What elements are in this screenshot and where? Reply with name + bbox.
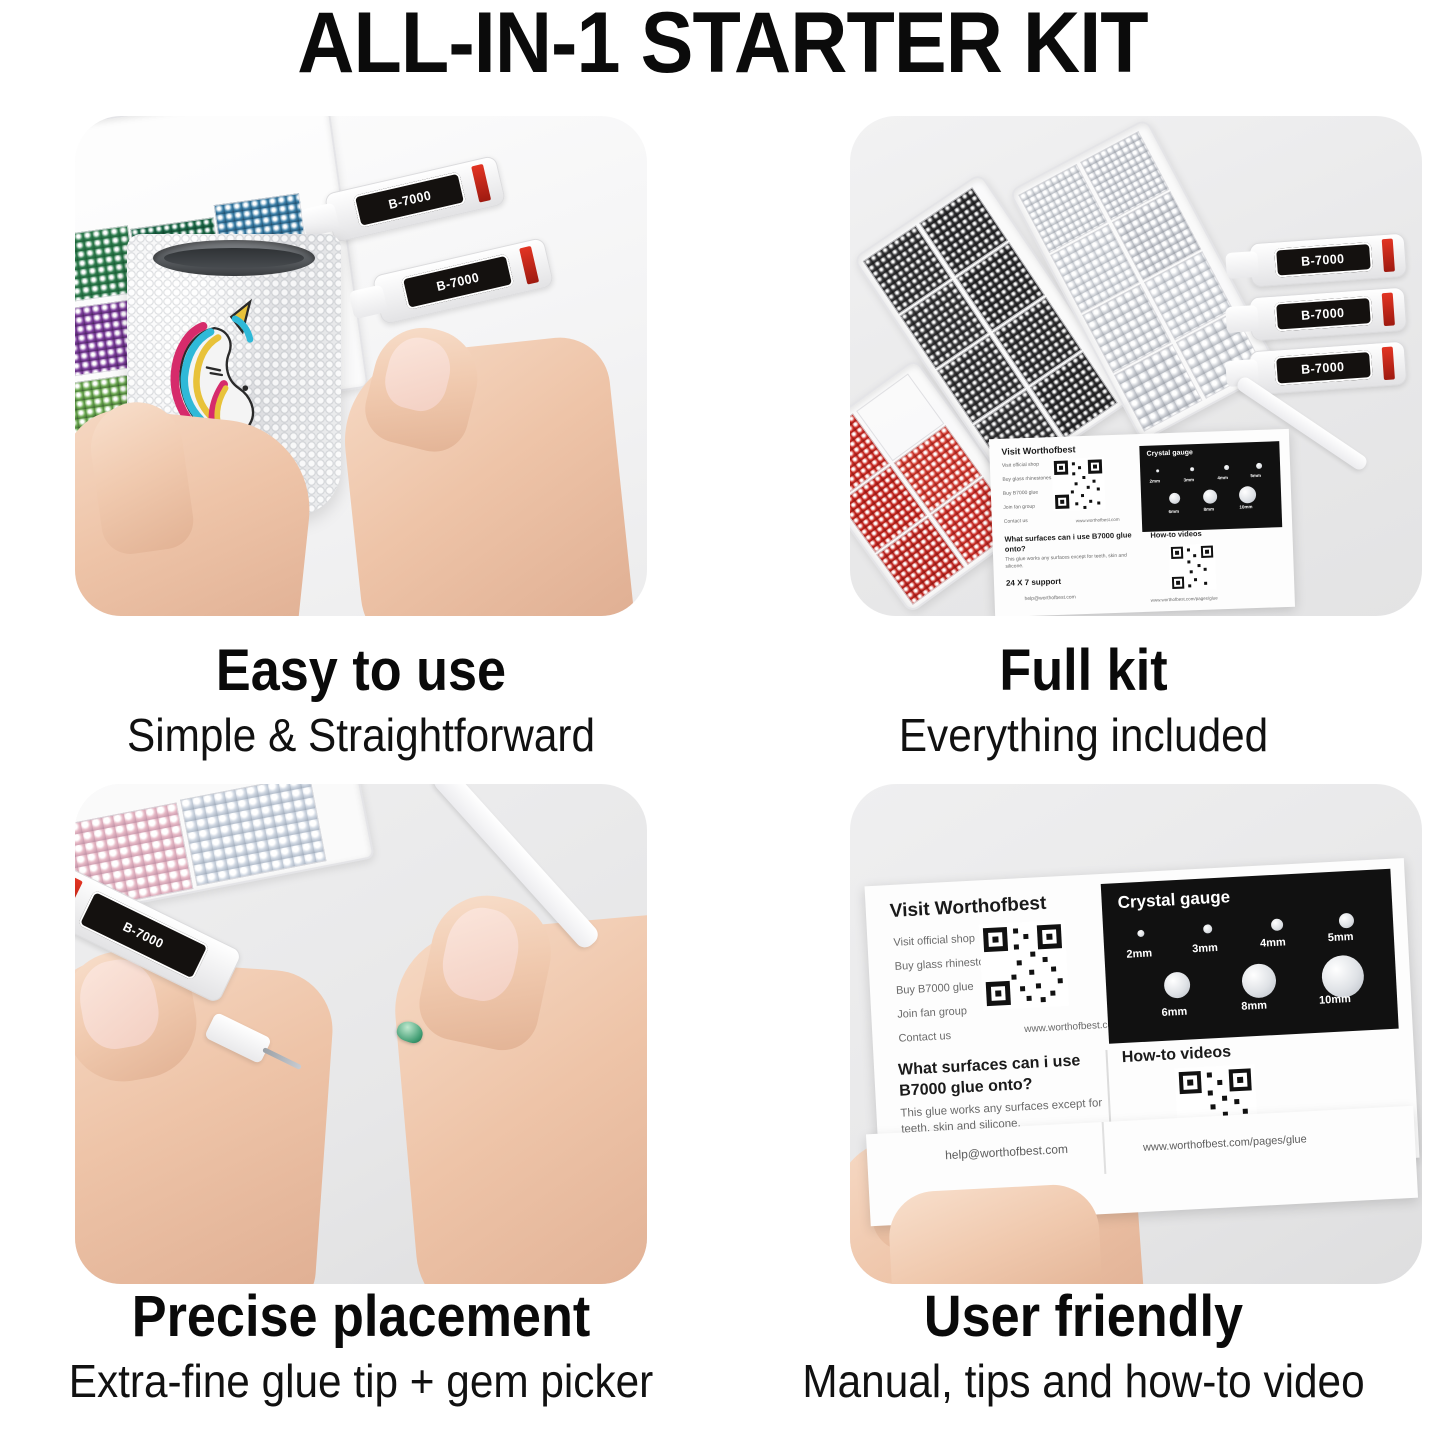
feature-cell-easy-to-use: B-7000 B-7000 xyxy=(0,92,722,772)
card-answer: This glue works any surfaces except for … xyxy=(1005,552,1145,570)
card-link: Visit official shop xyxy=(893,933,975,949)
gauge-size-label: 6mm xyxy=(1161,1006,1187,1019)
glue-brand-label: B-7000 xyxy=(1301,305,1345,323)
card-support-email: help@worthofbest.com xyxy=(1024,594,1075,602)
card-support-title: 24 X 7 support xyxy=(1006,577,1061,588)
gauge-size-label: 10mm xyxy=(1239,504,1252,509)
feature-subheading: Manual, tips and how-to video xyxy=(751,1358,1416,1404)
gauge-size-label: 2mm xyxy=(1126,947,1152,960)
feature-heading: Precise placement xyxy=(36,1288,686,1346)
crystal-gauge-panel: Crystal gauge 2mm 3mm 4mm 5mm 6mm 8mm xyxy=(1139,441,1282,532)
feature-cell-user-friendly: Visit Worthofbest Visit official shop Bu… xyxy=(722,760,1445,1438)
card-link: Buy B7000 glue xyxy=(1003,490,1039,497)
feature-heading: Full kit xyxy=(758,642,1409,700)
gauge-size-label: 8mm xyxy=(1203,506,1214,511)
card-link: Contact us xyxy=(898,1030,951,1045)
crystal-gauge-title: Crystal gauge xyxy=(1117,887,1230,913)
instruction-card: Visit Worthofbest Visit official shop Bu… xyxy=(989,429,1295,616)
card-link: Join fan group xyxy=(1003,504,1035,511)
gauge-size-label: 8mm xyxy=(1241,999,1267,1012)
glue-brand-label: B-7000 xyxy=(435,270,481,294)
gauge-size-label: 3mm xyxy=(1192,942,1218,955)
gauge-size-label: 3mm xyxy=(1183,477,1194,482)
card-visit-title: Visit Worthofbest xyxy=(889,893,1047,923)
gauge-size-label: 4mm xyxy=(1217,475,1228,480)
gauge-size-label: 10mm xyxy=(1319,993,1351,1007)
qr-code-shop xyxy=(979,920,1069,1010)
gauge-size-label: 6mm xyxy=(1169,509,1180,514)
feature-subheading: Extra-fine glue tip + gem picker xyxy=(29,1358,693,1404)
infographic-page: ALL-IN-1 STARTER KIT xyxy=(0,0,1445,1438)
card-visit-title: Visit Worthofbest xyxy=(1001,444,1075,457)
card-link: Buy glass rhinestones xyxy=(1002,475,1051,483)
qr-code-videos xyxy=(1169,543,1217,591)
card-link: Join fan group xyxy=(897,1005,967,1021)
card-link: Visit official shop xyxy=(1002,462,1039,469)
feature-subheading: Simple & Straightforward xyxy=(29,712,693,758)
feature-heading: User friendly xyxy=(758,1288,1409,1346)
card-question: What surfaces can i use B7000 glue onto? xyxy=(1004,530,1145,555)
glue-tube: B-7000 xyxy=(1249,233,1408,288)
feature-cell-precise-placement: B-7000 Precise placement Extra-fine glue… xyxy=(0,760,722,1438)
page-title: ALL-IN-1 STARTER KIT xyxy=(58,0,1387,93)
feature-heading: Easy to use xyxy=(36,642,686,700)
card-divider xyxy=(1102,1122,1107,1174)
photo-full-kit: B-7000 B-7000 B-7000 Visit Worthofbest xyxy=(850,116,1422,616)
glue-brand-label: B-7000 xyxy=(1301,359,1345,377)
photo-user-friendly: Visit Worthofbest Visit official shop Bu… xyxy=(850,784,1422,1284)
gauge-size-label: 5mm xyxy=(1250,473,1261,478)
glue-brand-label: B-7000 xyxy=(1301,251,1345,269)
card-link: Contact us xyxy=(1004,518,1028,525)
fingers xyxy=(887,1183,1103,1284)
feature-cell-full-kit: B-7000 B-7000 B-7000 Visit Worthofbest xyxy=(722,92,1445,772)
card-videos-title: How-to videos xyxy=(1150,529,1202,540)
feature-subheading: Everything included xyxy=(751,712,1416,758)
crystal-gauge-title: Crystal gauge xyxy=(1146,449,1193,458)
photo-easy-to-use: B-7000 B-7000 xyxy=(75,116,647,616)
qr-code-shop xyxy=(1052,457,1106,511)
card-videos-url: www.worthofbest.com/pages/glue xyxy=(1151,595,1218,602)
glue-tube: B-7000 xyxy=(372,237,555,325)
tray-compartment xyxy=(180,784,326,886)
card-support-email: help@worthofbest.com xyxy=(945,1142,1068,1162)
gauge-size-label: 2mm xyxy=(1149,478,1160,483)
crystal-gauge-panel: Crystal gauge 2mm 3mm 4mm 5mm 6mm 8mm xyxy=(1101,869,1399,1044)
card-videos-url: www.worthofbest.com/pages/glue xyxy=(1143,1133,1307,1154)
card-question: What surfaces can i use B7000 glue onto? xyxy=(898,1050,1114,1103)
glue-brand-label: B-7000 xyxy=(387,188,433,212)
glue-tube: B-7000 xyxy=(324,155,507,243)
glue-tube: B-7000 xyxy=(1249,287,1408,342)
photo-precise-placement: B-7000 xyxy=(75,784,647,1284)
card-videos-title: How-to videos xyxy=(1121,1043,1231,1067)
card-site-url: www.worthofbest.com xyxy=(1076,517,1120,524)
gauge-size-label: 4mm xyxy=(1260,936,1286,949)
gauge-size-label: 5mm xyxy=(1328,931,1354,944)
glue-brand-label: B-7000 xyxy=(121,919,167,951)
glue-tube: B-7000 xyxy=(1249,341,1408,396)
card-link: Buy B7000 glue xyxy=(896,981,974,997)
